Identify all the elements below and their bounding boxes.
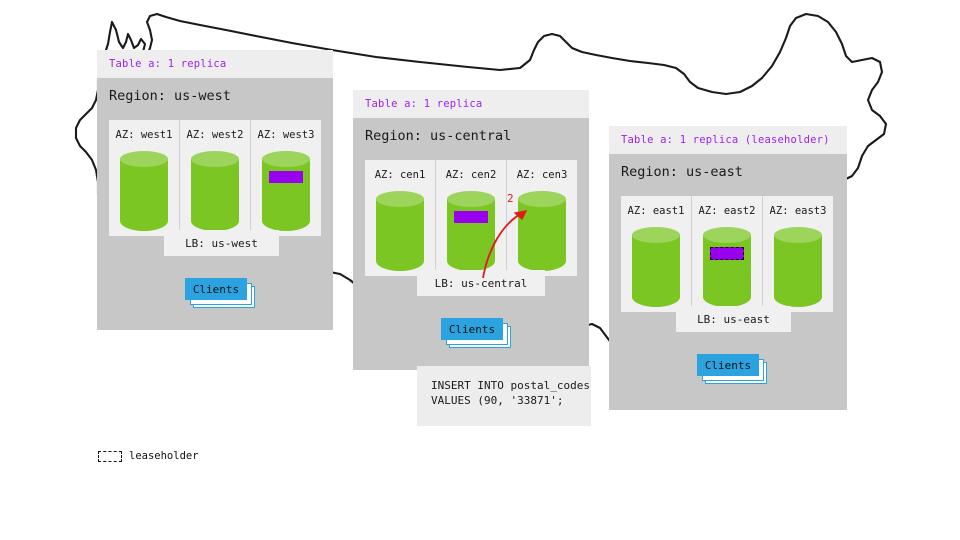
routing-arrow-label-2: 2 <box>507 192 514 205</box>
clients-label: Clients <box>193 283 239 296</box>
cylinder-top <box>191 151 239 167</box>
clients-stack-us-west[interactable]: Clients <box>185 278 257 312</box>
load-balancer-us-east[interactable]: LB: us-east <box>676 306 791 332</box>
cylinder-body <box>262 159 310 231</box>
load-balancer-us-west[interactable]: LB: us-west <box>164 230 279 256</box>
az-label: AZ: west2 <box>187 129 244 141</box>
az-cell-cen1[interactable]: AZ: cen1 <box>365 160 435 276</box>
cylinder-top <box>774 227 822 243</box>
region-title-us-central: Region: us-central <box>353 118 589 152</box>
clients-button[interactable]: Clients <box>185 278 247 300</box>
node-cylinder-east2[interactable] <box>703 227 751 307</box>
az-label: AZ: east2 <box>699 205 756 217</box>
load-balancer-label: LB: us-west <box>185 237 258 250</box>
region-header-band-us-east: Table a: 1 replica (leaseholder) <box>609 126 847 154</box>
cylinder-top <box>632 227 680 243</box>
legend: leaseholder <box>98 450 199 462</box>
load-balancer-label: LB: us-east <box>697 313 770 326</box>
az-cell-east2[interactable]: AZ: east2 <box>691 196 762 312</box>
cylinder-top <box>703 227 751 243</box>
sql-statement-box: INSERT INTO postal_codes VALUES (90, '33… <box>417 366 591 426</box>
az-cell-east1[interactable]: AZ: east1 <box>621 196 691 312</box>
clients-button[interactable]: Clients <box>697 354 759 376</box>
node-cylinder-cen1[interactable] <box>376 191 424 271</box>
az-label: AZ: east1 <box>628 205 685 217</box>
clients-label: Clients <box>449 323 495 336</box>
clients-button[interactable]: Clients <box>441 318 503 340</box>
clients-stack-us-central[interactable]: Clients <box>441 318 513 352</box>
az-cell-west2[interactable]: AZ: west2 <box>179 120 250 236</box>
cylinder-body <box>376 199 424 271</box>
az-strip-us-west: AZ: west1 AZ: west2 AZ: west3 <box>109 120 321 236</box>
az-label: AZ: west1 <box>116 129 173 141</box>
region-title-us-west: Region: us-west <box>97 78 333 112</box>
region-header-band-us-west: Table a: 1 replica <box>97 50 333 78</box>
node-cylinder-east3[interactable] <box>774 227 822 307</box>
routing-arrow-central <box>440 180 560 290</box>
node-cylinder-west2[interactable] <box>191 151 239 231</box>
cylinder-top <box>262 151 310 167</box>
clients-label: Clients <box>705 359 751 372</box>
legend-label: leaseholder <box>129 450 199 462</box>
replica-marker-east2-leaseholder[interactable] <box>710 247 744 260</box>
cylinder-top <box>376 191 424 207</box>
cylinder-body <box>120 159 168 231</box>
node-cylinder-east1[interactable] <box>632 227 680 307</box>
az-cell-west3[interactable]: AZ: west3 <box>250 120 321 236</box>
az-strip-us-east: AZ: east1 AZ: east2 AZ: east3 <box>621 196 833 312</box>
cylinder-body <box>703 235 751 307</box>
az-cell-east3[interactable]: AZ: east3 <box>762 196 833 312</box>
cylinder-body <box>774 235 822 307</box>
region-panel-us-west: Table a: 1 replica Region: us-west AZ: w… <box>97 50 333 330</box>
az-label: AZ: west3 <box>258 129 315 141</box>
cylinder-top <box>120 151 168 167</box>
az-cell-west1[interactable]: AZ: west1 <box>109 120 179 236</box>
region-header-text: Table a: 1 replica <box>109 58 226 70</box>
az-label: AZ: east3 <box>770 205 827 217</box>
region-header-band-us-central: Table a: 1 replica <box>353 90 589 118</box>
clients-stack-us-east[interactable]: Clients <box>697 354 769 388</box>
region-header-text: Table a: 1 replica (leaseholder) <box>621 134 830 146</box>
az-label: AZ: cen1 <box>375 169 426 181</box>
node-cylinder-west1[interactable] <box>120 151 168 231</box>
dashed-rect-icon <box>98 451 122 462</box>
region-header-text: Table a: 1 replica <box>365 98 482 110</box>
diagram-canvas: Table a: 1 replica Region: us-west AZ: w… <box>0 0 960 540</box>
region-title-us-east: Region: us-east <box>609 154 847 188</box>
cylinder-body <box>632 235 680 307</box>
replica-marker-west3[interactable] <box>269 171 303 183</box>
node-cylinder-west3[interactable] <box>262 151 310 231</box>
cylinder-body <box>191 159 239 231</box>
region-panel-us-east: Table a: 1 replica (leaseholder) Region:… <box>609 126 847 410</box>
